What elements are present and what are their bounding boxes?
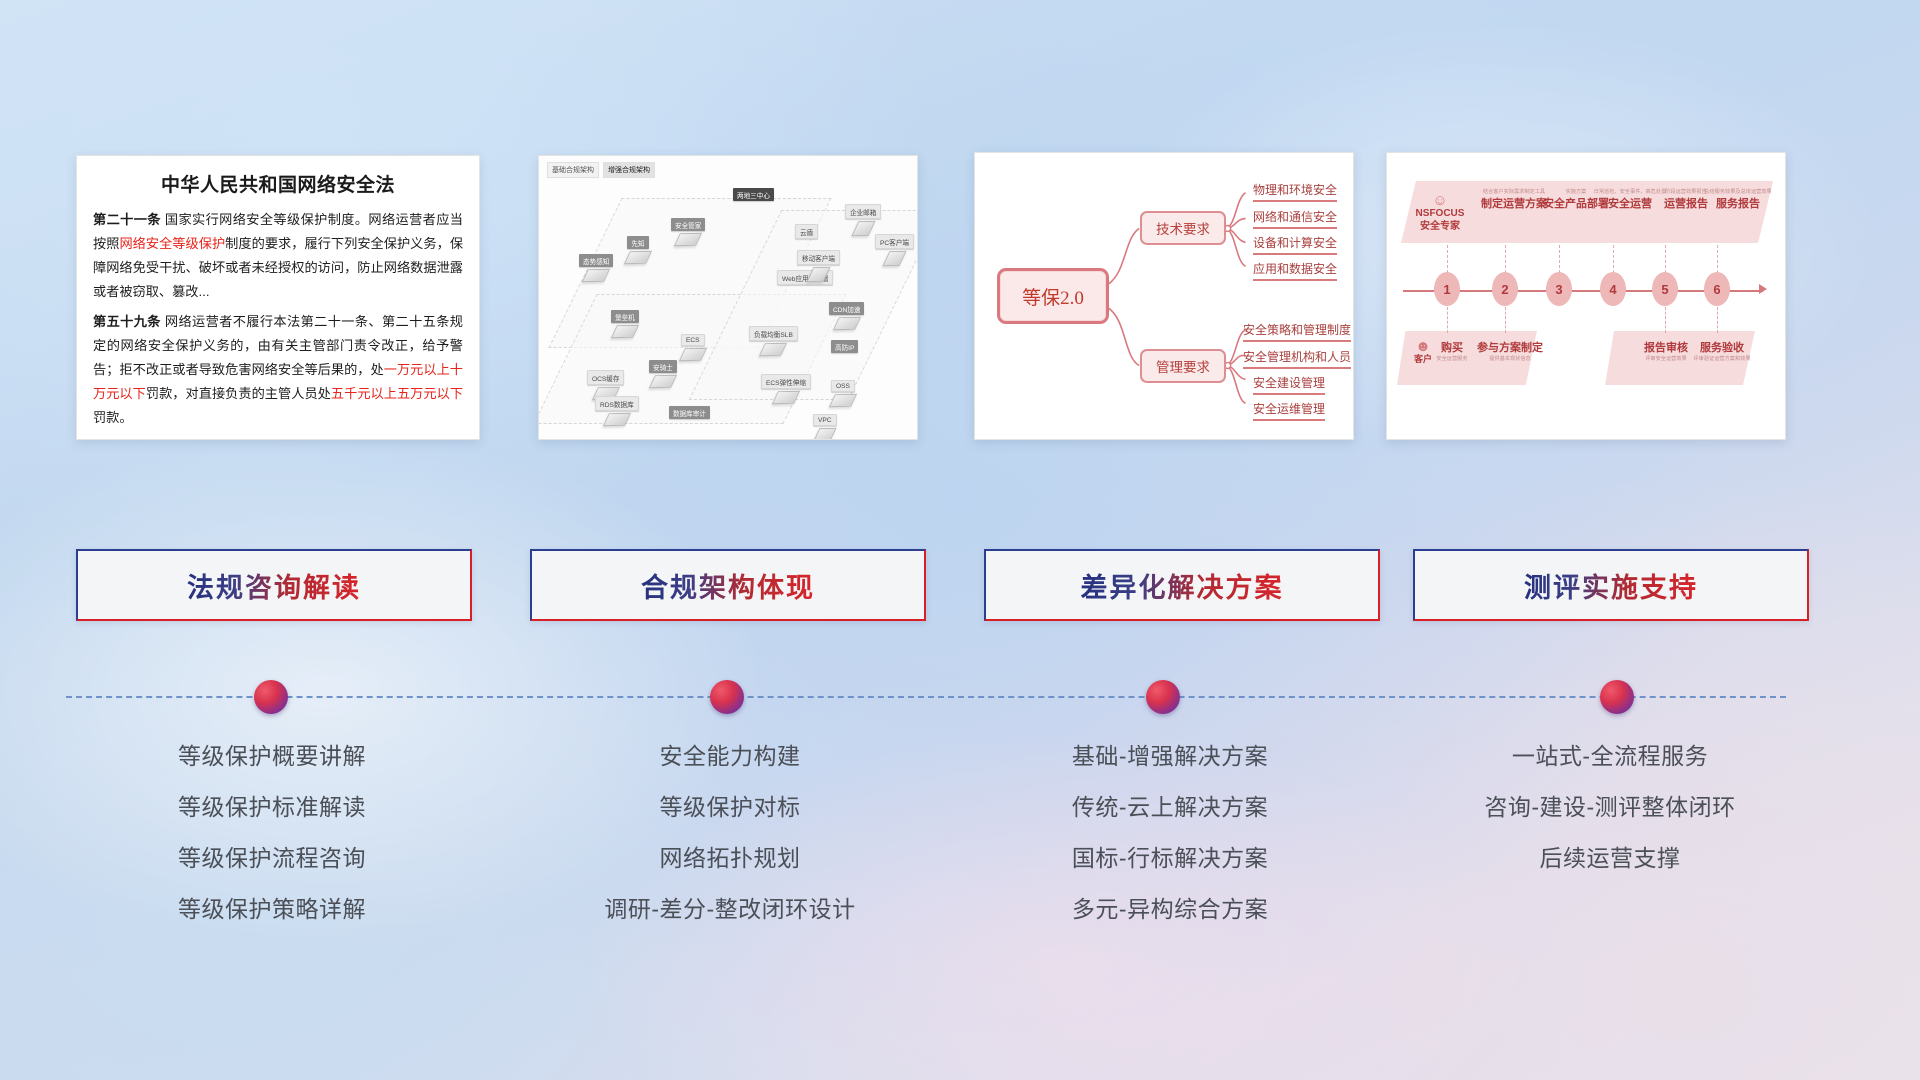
section-list-1: 等级保护概要讲解 等级保护标准解读 等级保护流程咨询 等级保护策略详解 — [62, 745, 482, 949]
mindmap-leaf-tech-1: 网络和通信安全 — [1253, 208, 1337, 229]
arch-node-8: RDS数据库 — [595, 396, 639, 426]
arch-node-13: 高防IP — [831, 340, 858, 353]
article-59-text-b: 罚款，对直接负责的主管人员处 — [146, 386, 331, 401]
mindmap-branch-technical: 技术要求 — [1140, 211, 1226, 245]
nsfocus-bottom-stage-1: 参与方案制定 提供基本现状信息 — [1473, 339, 1547, 362]
arch-node-4: 堡垒机 — [611, 310, 639, 338]
list-item: 后续运营支撑 — [1400, 847, 1820, 870]
architecture-nodes: 两地三中心 安全管家 先知 态势感知 堡垒机 ECS — [545, 174, 911, 433]
section-title-box-4[interactable]: 测评实施支持 — [1413, 549, 1809, 621]
nsfocus-bottom-stage-0: 购买 安全运营服务 — [1429, 339, 1475, 362]
arch-node-16: OSS — [831, 380, 855, 407]
timeline-dot-4[interactable] — [1600, 680, 1634, 714]
list-item: 安全能力构建 — [520, 745, 940, 768]
nsfocus-connector-5 — [1717, 245, 1718, 273]
list-item: 传统-云上解决方案 — [960, 796, 1380, 819]
mindmap-branch-management: 管理要求 — [1140, 349, 1226, 383]
arch-node-12: CDN加速 — [829, 302, 864, 330]
nsfocus-step-6: 6 — [1704, 272, 1730, 306]
nsfocus-connector-0 — [1447, 245, 1448, 273]
arch-node-5: ECS — [681, 334, 705, 361]
nsfocus-step-3: 3 — [1546, 272, 1572, 306]
nsfocus-bottom-stage-3: 服务验收 评审验证运营方案和效果 — [1687, 339, 1757, 362]
list-item: 多元-异构综合方案 — [960, 898, 1380, 921]
mindmap-card: 等保2.0 技术要求 管理要求 物理和环境安全 网络和通信安全 设备和计算安全 … — [974, 152, 1354, 440]
nsfocus-step-5: 5 — [1652, 272, 1678, 306]
nsfocus-connector-6 — [1447, 307, 1448, 333]
nsfocus-step-1: 1 — [1434, 272, 1460, 306]
mindmap-leaf-mgmt-2: 安全建设管理 — [1253, 374, 1325, 395]
list-item: 等级保护概要讲解 — [62, 745, 482, 768]
nsfocus-connector-4 — [1665, 245, 1666, 273]
arch-node-14: 云盾 — [795, 224, 818, 239]
mindmap-leaf-mgmt-3: 安全运维管理 — [1253, 400, 1325, 421]
arch-node-2: 先知 — [627, 236, 649, 264]
section-list-3: 基础-增强解决方案 传统-云上解决方案 国标-行标解决方案 多元-异构综合方案 — [960, 745, 1380, 949]
nsfocus-timeline-card: ☺ NSFOCUS 安全专家 结合客户实际需求制定工具 制定运营方案 实施方案 … — [1386, 152, 1786, 440]
arch-node-11: 负载均衡SLB — [749, 326, 798, 356]
arch-node-18: 企业邮箱 — [845, 204, 881, 236]
timeline-dot-3[interactable] — [1146, 680, 1180, 714]
section-list-2: 安全能力构建 等级保护对标 网络拓扑规划 调研-差分-整改闭环设计 — [520, 745, 940, 949]
expert-person-icon: ☺ — [1409, 193, 1471, 208]
law-article-59: 第五十九条 网络运营者不履行本法第二十一条、第二十五条规定的网络安全保护义务的，… — [93, 310, 463, 430]
section-title-box-2[interactable]: 合规架构体现 — [530, 549, 926, 621]
list-item: 等级保护流程咨询 — [62, 847, 482, 870]
slide-stage: 中华人民共和国网络安全法 第二十一条 国家实行网络安全等级保护制度。网络运营者应… — [0, 0, 1920, 1080]
arch-node-19: PC客户端 — [875, 234, 914, 266]
arch-node-9: 数据库审计 — [669, 406, 710, 419]
section-title-4: 测评实施支持 — [1524, 566, 1698, 605]
nsfocus-step-2: 2 — [1492, 272, 1518, 306]
mindmap-leaf-mgmt-0: 安全策略和管理制度 — [1243, 321, 1351, 342]
nsfocus-connector-1 — [1505, 245, 1506, 273]
list-item: 等级保护策略详解 — [62, 898, 482, 921]
mindmap-leaf-tech-0: 物理和环境安全 — [1253, 181, 1337, 202]
list-item: 等级保护标准解读 — [62, 796, 482, 819]
nsfocus-brand-name: NSFOCUS — [1409, 208, 1471, 221]
list-item: 国标-行标解决方案 — [960, 847, 1380, 870]
timeline-dashed-line — [66, 696, 1786, 698]
nsfocus-connector-2 — [1559, 245, 1560, 273]
nsfocus-axis-arrow-icon — [1759, 284, 1767, 294]
law-body: 中华人民共和国网络安全法 第二十一条 国家实行网络安全等级保护制度。网络运营者应… — [77, 156, 479, 440]
nsfocus-step-4: 4 — [1600, 272, 1626, 306]
article-59-label: 第五十九条 — [93, 314, 161, 329]
article-21-highlight: 网络安全等级保护 — [119, 236, 225, 251]
list-item: 基础-增强解决方案 — [960, 745, 1380, 768]
nsfocus-connector-8 — [1665, 307, 1666, 333]
arch-node-20: 移动客户端 — [797, 250, 840, 282]
nsfocus-canvas: ☺ NSFOCUS 安全专家 结合客户实际需求制定工具 制定运营方案 实施方案 … — [1387, 153, 1785, 439]
nsfocus-top-stage-4: 总结服务效果及总体运营效果 服务报告 — [1701, 189, 1775, 211]
arch-node-6: 安骑士 — [649, 360, 677, 388]
list-item: 等级保护对标 — [520, 796, 940, 819]
mindmap-leaf-tech-2: 设备和计算安全 — [1253, 234, 1337, 255]
list-item: 网络拓扑规划 — [520, 847, 940, 870]
section-title-box-3[interactable]: 差异化解决方案 — [984, 549, 1380, 621]
mindmap-leaf-mgmt-1: 安全管理机构和人员 — [1243, 348, 1351, 369]
arch-node-3: 态势感知 — [579, 254, 613, 282]
article-59-text-c: 罚款。 — [93, 410, 133, 425]
nsfocus-connector-3 — [1613, 245, 1614, 273]
arch-node-1: 安全管家 — [671, 218, 705, 246]
section-title-2: 合规架构体现 — [641, 566, 815, 605]
timeline-dot-2[interactable] — [710, 680, 744, 714]
architecture-diagram-card: 基础合规架构 增强合规架构 两地三中心 安全管家 先知 — [538, 155, 918, 440]
nsfocus-brand-sub: 安全专家 — [1409, 221, 1471, 234]
section-title-1: 法规咨询解读 — [187, 566, 361, 605]
mindmap-leaf-tech-3: 应用和数据安全 — [1253, 260, 1337, 281]
timeline-dot-1[interactable] — [254, 680, 288, 714]
arch-node-15: ECS弹性伸缩 — [761, 374, 811, 404]
nsfocus-connector-9 — [1717, 307, 1718, 333]
architecture-canvas: 基础合规架构 增强合规架构 两地三中心 安全管家 先知 — [539, 156, 917, 439]
list-item: 调研-差分-整改闭环设计 — [520, 898, 940, 921]
law-article-21: 第二十一条 国家实行网络安全等级保护制度。网络运营者应当按照网络安全等级保护制度… — [93, 208, 463, 304]
section-title-3: 差异化解决方案 — [1081, 566, 1284, 605]
mindmap-canvas: 等保2.0 技术要求 管理要求 物理和环境安全 网络和通信安全 设备和计算安全 … — [975, 153, 1353, 439]
article-21-label: 第二十一条 — [93, 212, 161, 227]
mindmap-root-node: 等保2.0 — [997, 268, 1109, 324]
article-59-highlight-2: 五千元以上五万元以下 — [331, 386, 463, 401]
law-title: 中华人民共和国网络安全法 — [93, 170, 463, 197]
arch-node-0: 两地三中心 — [733, 188, 774, 201]
section-list-4: 一站式-全流程服务 咨询-建设-测评整体闭环 后续运营支撑 — [1400, 745, 1820, 898]
law-text-card: 中华人民共和国网络安全法 第二十一条 国家实行网络安全等级保护制度。网络运营者应… — [76, 155, 480, 440]
nsfocus-connector-7 — [1505, 307, 1506, 333]
list-item: 咨询-建设-测评整体闭环 — [1400, 796, 1820, 819]
section-title-box-1[interactable]: 法规咨询解读 — [76, 549, 472, 621]
illustration-card-row: 中华人民共和国网络安全法 第二十一条 国家实行网络安全等级保护制度。网络运营者应… — [0, 0, 1920, 450]
nsfocus-brand-block: ☺ NSFOCUS 安全专家 — [1409, 193, 1471, 233]
arch-node-17: VPC — [813, 414, 837, 440]
list-item: 一站式-全流程服务 — [1400, 745, 1820, 768]
